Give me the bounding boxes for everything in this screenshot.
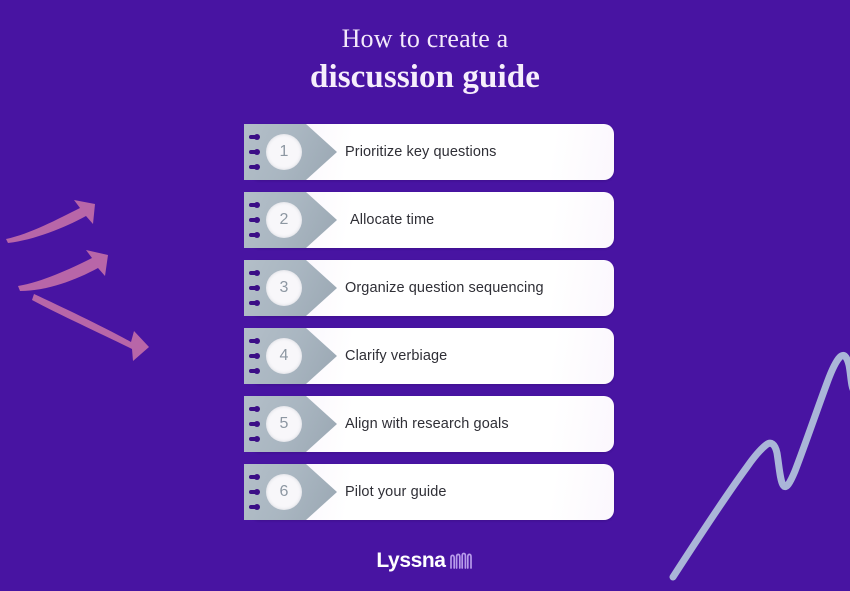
binding-dot-icon — [249, 286, 259, 290]
binding-dot-icon — [249, 422, 259, 426]
title-line-two: discussion guide — [0, 55, 850, 98]
infographic-poster: How to create a discussion guide Priorit… — [0, 0, 850, 591]
binding-dot-icon — [249, 369, 259, 373]
binding-dot-icon — [249, 135, 259, 139]
list-item[interactable]: Allocate time 2 — [244, 192, 614, 248]
binding-dot-icon — [249, 203, 259, 207]
binding-dot-icon — [249, 271, 259, 275]
binding-dot-icon — [249, 475, 259, 479]
binding-dot-icon — [249, 490, 259, 494]
step-number-circle: 3 — [266, 270, 302, 306]
binding-dots — [245, 464, 259, 520]
step-number: 3 — [280, 280, 289, 296]
binding-dots — [245, 328, 259, 384]
step-label: Prioritize key questions — [345, 124, 497, 180]
squiggle-mark-icon — [448, 552, 474, 569]
step-label: Allocate time — [350, 192, 434, 248]
step-label: Pilot your guide — [345, 464, 447, 520]
binding-dot-icon — [249, 218, 259, 222]
binding-dots — [245, 124, 259, 180]
step-number-circle: 4 — [266, 338, 302, 374]
binding-dot-icon — [249, 150, 259, 154]
binding-dot-icon — [249, 165, 259, 169]
step-number-circle: 5 — [266, 406, 302, 442]
step-number-circle: 6 — [266, 474, 302, 510]
list-item[interactable]: Prioritize key questions 1 — [244, 124, 614, 180]
step-number-circle: 2 — [266, 202, 302, 238]
list-item[interactable]: Clarify verbiage 4 — [244, 328, 614, 384]
list-item[interactable]: Align with research goals 5 — [244, 396, 614, 452]
binding-dots — [245, 396, 259, 452]
step-label: Clarify verbiage — [345, 328, 447, 384]
list-item[interactable]: Organize question sequencing 3 — [244, 260, 614, 316]
binding-dots — [245, 260, 259, 316]
binding-dot-icon — [249, 339, 259, 343]
binding-dot-icon — [249, 437, 259, 441]
step-number-circle: 1 — [266, 134, 302, 170]
binding-dot-icon — [249, 233, 259, 237]
brand-logo: Lyssna — [0, 550, 850, 571]
step-number: 5 — [280, 416, 289, 432]
right-trend-squiggle-decoration — [655, 315, 850, 585]
title-line-one: How to create a — [0, 24, 850, 55]
binding-dot-icon — [249, 354, 259, 358]
steps-list: Prioritize key questions 1 Allocate time… — [244, 124, 614, 520]
page-title: How to create a discussion guide — [0, 24, 850, 97]
left-arrows-decoration — [0, 190, 175, 375]
brand-name: Lyssna — [376, 550, 445, 571]
step-number: 1 — [280, 144, 289, 160]
step-label: Organize question sequencing — [345, 260, 544, 316]
binding-dot-icon — [249, 505, 259, 509]
binding-dot-icon — [249, 301, 259, 305]
binding-dots — [245, 192, 259, 248]
step-number: 6 — [280, 484, 289, 500]
step-label: Align with research goals — [345, 396, 509, 452]
binding-dot-icon — [249, 407, 259, 411]
list-item[interactable]: Pilot your guide 6 — [244, 464, 614, 520]
step-number: 4 — [280, 348, 289, 364]
step-number: 2 — [280, 212, 289, 228]
